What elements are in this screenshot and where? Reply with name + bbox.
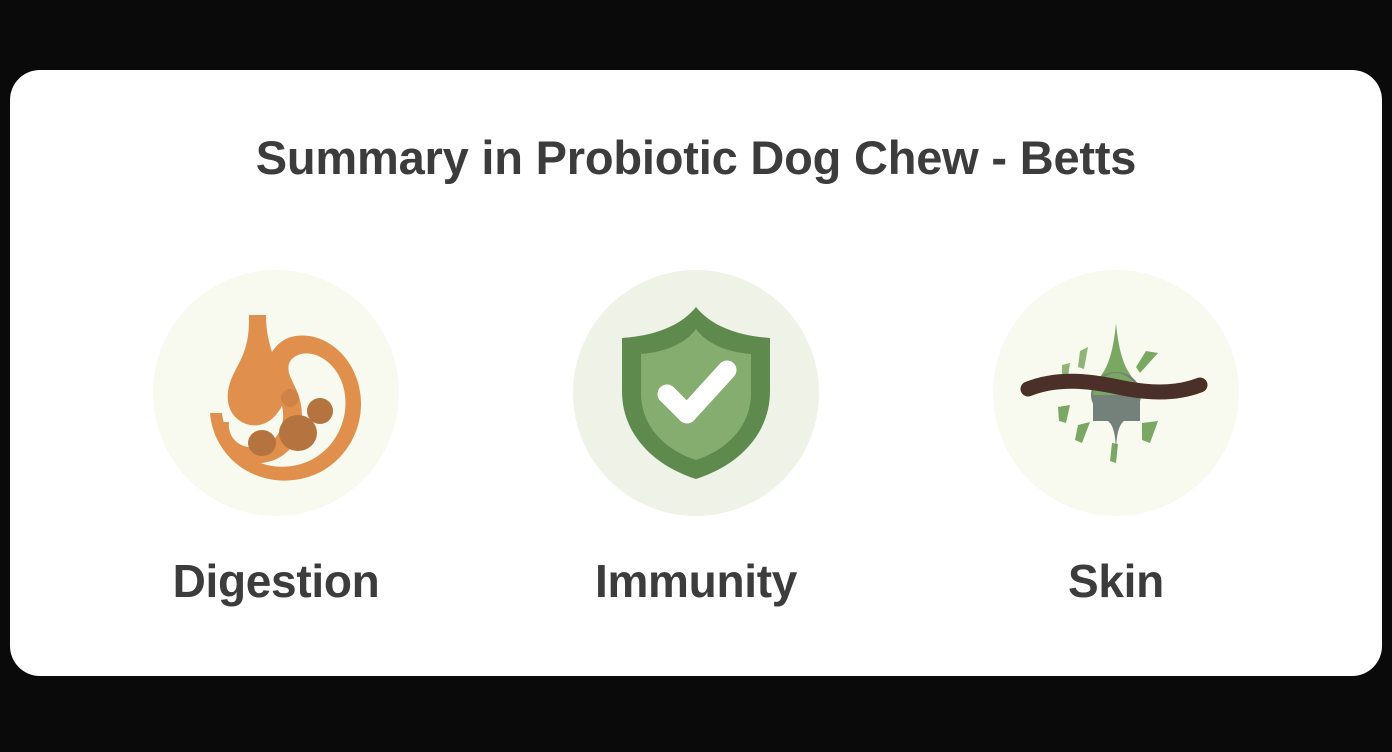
screen-root: Summary in Probiotic Dog Chew - Betts <box>0 0 1392 752</box>
benefit-icon-circle-immunity <box>573 270 819 516</box>
benefit-label-skin: Skin <box>1068 558 1164 604</box>
benefit-label-digestion: Digestion <box>173 558 380 604</box>
page-title: Summary in Probiotic Dog Chew - Betts <box>10 130 1382 185</box>
benefit-item-immunity[interactable]: Immunity <box>486 270 906 604</box>
benefit-label-immunity: Immunity <box>595 558 797 604</box>
benefit-icon-circle-skin <box>993 270 1239 516</box>
benefit-item-skin[interactable]: Skin <box>906 270 1326 604</box>
shield-check-icon <box>608 303 784 483</box>
hair-follicle-icon <box>1018 303 1214 483</box>
benefit-icon-circle-digestion <box>153 270 399 516</box>
summary-card: Summary in Probiotic Dog Chew - Betts <box>10 70 1382 676</box>
benefits-row: Digestion Immunity <box>10 270 1382 604</box>
benefit-item-digestion[interactable]: Digestion <box>66 270 486 604</box>
stomach-icon <box>186 303 366 483</box>
